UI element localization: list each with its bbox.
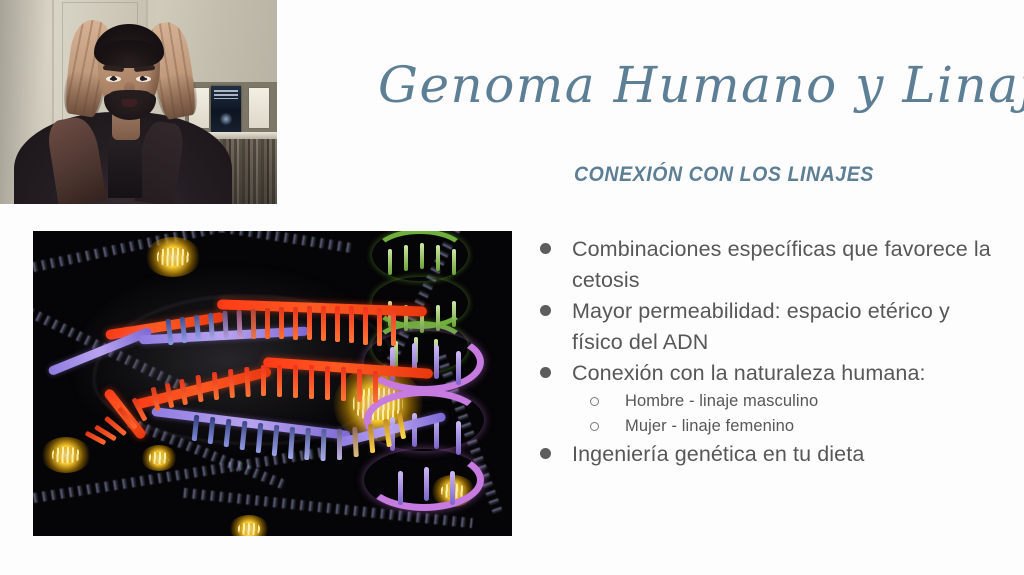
base-pair bbox=[357, 369, 362, 402]
base-pair bbox=[293, 365, 298, 398]
base-pair bbox=[293, 307, 298, 340]
base-pair bbox=[373, 371, 378, 403]
red-backbone bbox=[263, 357, 433, 379]
base-pair bbox=[337, 429, 342, 460]
sub-list-item-label: Hombre - linaje masculino bbox=[625, 389, 818, 414]
base-pair bbox=[261, 365, 266, 396]
sub-list-item: Mujer - linaje femenino bbox=[590, 414, 1004, 439]
base-pair bbox=[307, 306, 312, 340]
bullet-dot-icon bbox=[540, 367, 551, 378]
bullet-list: Combinaciones específicas que favorece l… bbox=[534, 234, 1004, 470]
bullet-dot-icon bbox=[540, 305, 551, 316]
list-item-label: Mayor permeabilidad: espacio etérico y f… bbox=[572, 296, 1004, 358]
glow-node bbox=[141, 445, 177, 471]
glow-node bbox=[229, 515, 269, 536]
list-item: Conexión con la naturaleza humana: bbox=[534, 358, 1004, 389]
list-item: Combinaciones específicas que favorece l… bbox=[534, 234, 1004, 296]
list-item: Ingeniería genética en tu dieta bbox=[534, 439, 1004, 470]
base-pair bbox=[341, 367, 346, 401]
mouth bbox=[122, 98, 137, 107]
base-pair bbox=[277, 365, 282, 397]
bullet-dot-icon bbox=[540, 448, 551, 459]
pupil-left bbox=[111, 76, 116, 81]
moustache bbox=[110, 90, 150, 99]
dna-crispr-illustration[interactable] bbox=[33, 231, 512, 536]
bullet-dot-icon bbox=[540, 243, 551, 254]
glow-node bbox=[145, 237, 201, 277]
base-pair bbox=[391, 309, 396, 346]
list-item-label: Conexión con la naturaleza humana: bbox=[572, 358, 926, 389]
glow-node bbox=[41, 437, 91, 473]
base-pair bbox=[335, 306, 340, 342]
base-pair bbox=[222, 311, 228, 339]
main-dna-helix bbox=[91, 279, 421, 439]
list-item-label: Combinaciones específicas que favorece l… bbox=[572, 234, 1004, 296]
base-pair bbox=[251, 309, 257, 339]
standing-book bbox=[211, 86, 241, 132]
base-pair bbox=[228, 369, 235, 398]
base-pair bbox=[279, 307, 284, 339]
paper-sheet bbox=[249, 88, 269, 128]
list-item: Mayor permeabilidad: espacio etérico y f… bbox=[534, 296, 1004, 358]
base-pair bbox=[363, 307, 368, 345]
base-pair bbox=[377, 308, 382, 346]
base-pair bbox=[236, 310, 242, 339]
shelf-top-items bbox=[187, 86, 277, 130]
base-pair bbox=[212, 372, 219, 400]
sub-list-item-label: Mujer - linaje femenino bbox=[625, 414, 794, 439]
sub-list-item: Hombre - linaje masculino bbox=[590, 389, 1004, 414]
base-pair bbox=[349, 306, 354, 343]
presenter-video-feed[interactable] bbox=[0, 0, 277, 204]
bullet-circle-icon bbox=[590, 422, 599, 431]
page-subtitle: CONEXIÓN CON LOS LINAJES bbox=[574, 163, 874, 187]
bullet-circle-icon bbox=[590, 397, 599, 406]
base-pair bbox=[309, 365, 314, 399]
base-pair bbox=[321, 306, 326, 341]
presentation-slide: Genoma Humano y Linajes CONEXIÓN CON LOS… bbox=[0, 0, 1024, 575]
base-pair bbox=[325, 366, 330, 400]
pupil-right bbox=[140, 76, 145, 81]
list-item-label: Ingeniería genética en tu dieta bbox=[572, 439, 864, 470]
base-pair bbox=[265, 308, 270, 339]
base-pair bbox=[352, 427, 359, 457]
page-title: Genoma Humano y Linajes bbox=[378, 56, 998, 114]
